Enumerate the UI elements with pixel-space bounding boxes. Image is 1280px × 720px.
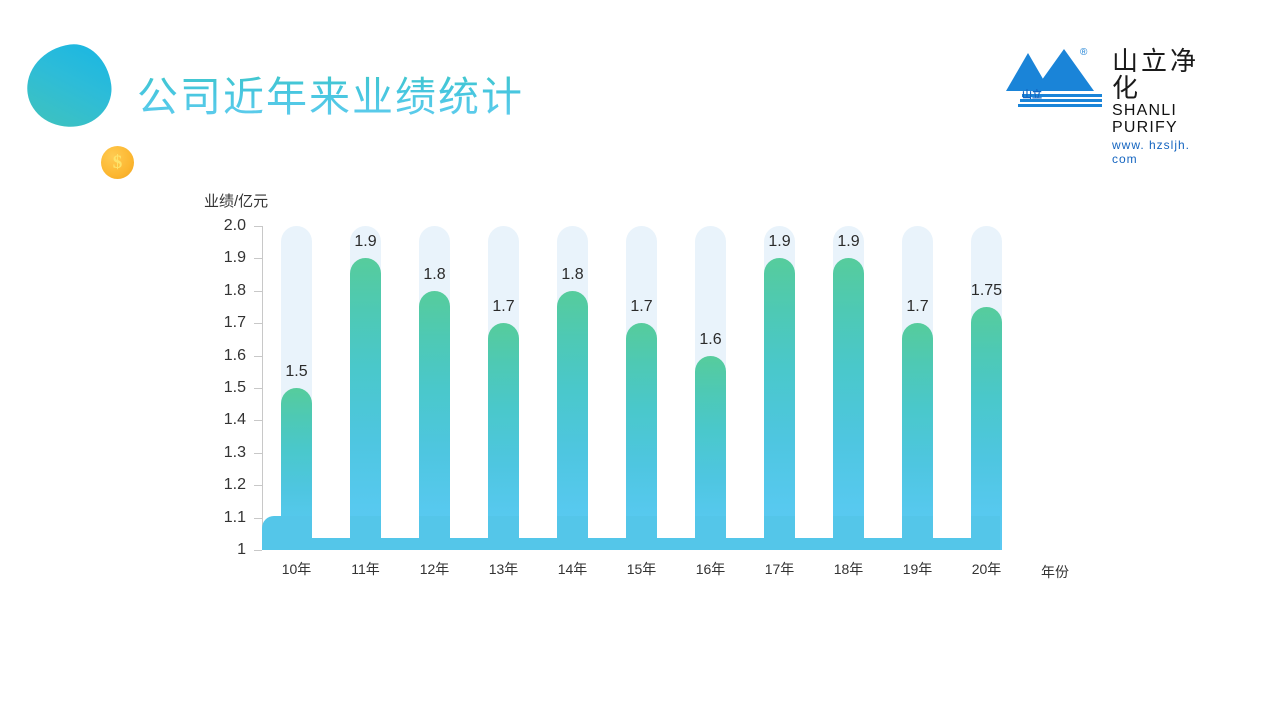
y-tick-label: 1.1 xyxy=(186,510,246,526)
base-notch xyxy=(312,516,350,538)
y-tick-label: 1 xyxy=(186,542,246,558)
y-tick-mark xyxy=(254,258,262,259)
y-tick-label: 1.7 xyxy=(186,315,246,331)
y-tick-label: 1.5 xyxy=(186,380,246,396)
base-notch xyxy=(657,516,695,538)
y-tick-mark xyxy=(254,420,262,421)
bar-17年[interactable] xyxy=(764,258,795,550)
x-tick-label-17年: 17年 xyxy=(750,562,810,576)
x-tick-label-10年: 10年 xyxy=(267,562,327,576)
y-tick-label: 1.8 xyxy=(186,283,246,299)
y-tick-mark xyxy=(254,356,262,357)
base-notch xyxy=(519,516,557,538)
bar-value-label: 1.8 xyxy=(405,267,465,283)
y-tick-mark xyxy=(254,291,262,292)
y-tick-mark xyxy=(254,453,262,454)
x-tick-label-20年: 20年 xyxy=(957,562,1017,576)
y-tick-label: 2.0 xyxy=(186,218,246,234)
bar-value-label: 1.8 xyxy=(543,267,603,283)
base-notch xyxy=(795,516,833,538)
bar-value-label: 1.7 xyxy=(474,299,534,315)
bar-value-label: 1.6 xyxy=(681,332,741,348)
y-tick-label: 1.3 xyxy=(186,445,246,461)
y-tick-mark xyxy=(254,485,262,486)
x-axis-title: 年份 xyxy=(1041,562,1069,582)
base-notch xyxy=(726,516,764,538)
y-tick-mark xyxy=(254,323,262,324)
y-tick-mark xyxy=(254,518,262,519)
x-tick-label-11年: 11年 xyxy=(336,562,396,576)
base-notch xyxy=(450,516,488,538)
bar-11年[interactable] xyxy=(350,258,381,550)
bar-value-label: 1.75 xyxy=(957,283,1017,299)
bar-value-label: 1.5 xyxy=(267,364,327,380)
bar-value-label: 1.9 xyxy=(750,234,810,250)
bar-12年[interactable] xyxy=(419,291,450,550)
x-tick-label-12年: 12年 xyxy=(405,562,465,576)
x-tick-label-16年: 16年 xyxy=(681,562,741,576)
bar-value-label: 1.7 xyxy=(612,299,672,315)
x-tick-label-14年: 14年 xyxy=(543,562,603,576)
x-tick-label-19年: 19年 xyxy=(888,562,948,576)
y-tick-mark xyxy=(254,550,262,551)
x-tick-label-15年: 15年 xyxy=(612,562,672,576)
y-tick-mark xyxy=(254,226,262,227)
y-tick-label: 1.9 xyxy=(186,250,246,266)
base-notch xyxy=(381,516,419,538)
bar-14年[interactable] xyxy=(557,291,588,550)
bar-value-label: 1.7 xyxy=(888,299,948,315)
plot-area xyxy=(262,226,1000,550)
bar-20年[interactable] xyxy=(971,307,1002,550)
x-tick-label-13年: 13年 xyxy=(474,562,534,576)
y-axis-title: 业绩/亿元 xyxy=(204,190,268,211)
bar-value-label: 1.9 xyxy=(819,234,879,250)
bar-chart: 业绩/亿元 年份 2.01.91.81.71.61.51.41.31.21.11… xyxy=(0,0,1280,720)
bar-18年[interactable] xyxy=(833,258,864,550)
y-tick-label: 1.2 xyxy=(186,477,246,493)
base-notch xyxy=(588,516,626,538)
x-tick-label-18年: 18年 xyxy=(819,562,879,576)
base-notch xyxy=(864,516,902,538)
bar-value-label: 1.9 xyxy=(336,234,396,250)
y-tick-label: 1.6 xyxy=(186,348,246,364)
y-tick-mark xyxy=(254,388,262,389)
y-tick-label: 1.4 xyxy=(186,412,246,428)
base-notch xyxy=(933,516,971,538)
